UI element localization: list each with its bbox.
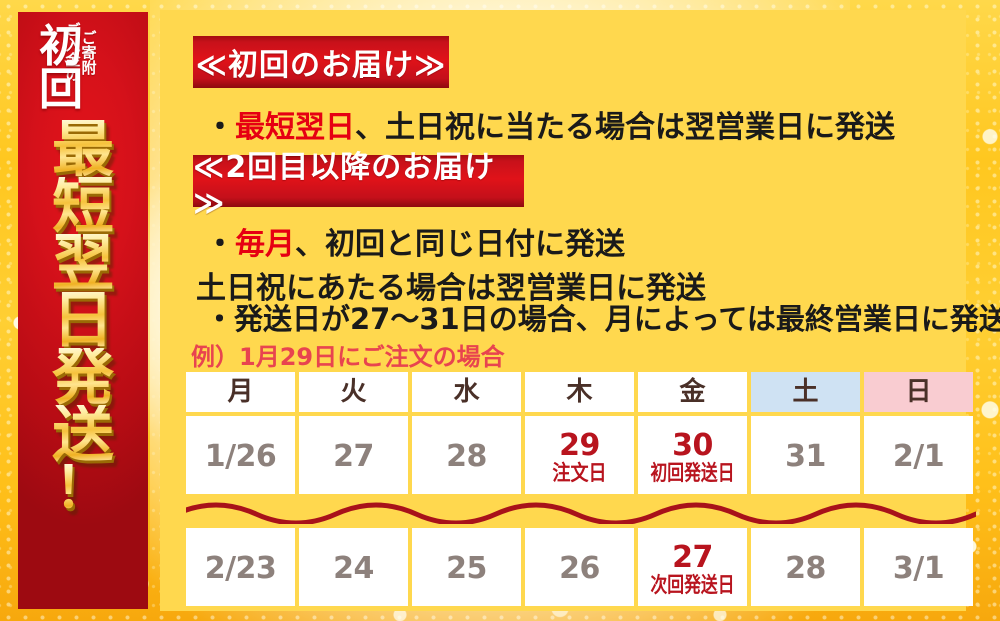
banner-shokai-label: 初 回 [26,18,96,118]
weekday-label: 木 [566,379,592,405]
weekday-cell-tue: 火 [299,372,408,412]
first-delivery-note: ・最短翌日、土日祝に当たる場合は翌営業日に発送 [205,102,895,146]
promo-banner: ご寄附 ご入金の 初 回 最 短 翌 日 発 送 ！ ≪初回のお届け≫ ・最短翌… [0,0,1000,621]
day-number: 27 [672,542,713,574]
subsequent-delivery-note-1-rest: 、初回と同じ日付に発送 [295,227,625,262]
wave-divider-svg [186,498,976,524]
highlight-monthly: 毎月 [235,227,295,262]
day-number: 27 [333,441,374,473]
day-cell-next-shipment: 27 次回発送日 [638,528,747,606]
calendar-weekday-header: 月 火 水 木 金 土 日 [186,372,976,412]
bullet-2: ・ [205,227,235,262]
day-tag-first-shipment: 初回発送日 [651,462,735,484]
calendar-wave-divider [186,498,976,524]
day-cell-first-shipment: 30 初回発送日 [638,416,747,494]
heading-subsequent-delivery: ≪2回目以降のお届け≫ [193,155,524,207]
day-cell: 28 [412,416,521,494]
weekday-label: 月 [227,379,253,405]
weekday-label: 日 [905,379,931,405]
first-delivery-note-rest: 、土日祝に当たる場合は翌営業日に発送 [355,110,895,145]
weekday-cell-sat: 土 [751,372,860,412]
day-number: 2/23 [205,553,277,585]
day-number: 28 [785,553,826,585]
calendar-week-row-2: 2/23 24 25 26 27 次回発送日 28 3/1 [186,528,976,606]
day-number: 31 [785,441,826,473]
day-cell: 25 [412,528,521,606]
weekday-cell-sun: 日 [864,372,973,412]
subsequent-delivery-note-1: ・毎月、初回と同じ日付に発送 [205,219,625,263]
weekday-label: 金 [679,379,705,405]
banner-shokai-char-2: 回 [39,68,83,111]
day-number: 28 [446,441,487,473]
day-number: 26 [559,553,600,585]
example-calendar: 月 火 水 木 金 土 日 1/26 [186,372,976,606]
heading-first-delivery: ≪初回のお届け≫ [193,36,449,88]
day-tag-next-shipment: 次回発送日 [651,574,735,596]
example-caption: 例）1月29日にご注文の場合 [191,337,505,372]
day-number: 3/1 [893,553,944,585]
highlight-soonest-next-day: 最短翌日 [235,110,355,145]
weekday-cell-fri: 金 [638,372,747,412]
day-cell: 24 [299,528,408,606]
weekday-cell-mon: 月 [186,372,295,412]
weekday-cell-thu: 木 [525,372,634,412]
day-number: 25 [446,553,487,585]
weekday-label: 土 [792,379,818,405]
day-tag-order-date: 注文日 [552,462,606,484]
day-cell-order-date: 29 注文日 [525,416,634,494]
day-number: 29 [559,430,600,462]
day-number: 2/1 [893,441,944,473]
day-cell: 2/23 [186,528,295,606]
weekday-cell-wed: 水 [412,372,521,412]
weekday-label: 水 [453,379,479,405]
day-cell: 1/26 [186,416,295,494]
day-number: 24 [333,553,374,585]
left-vertical-banner: ご寄附 ご入金の 初 回 最 短 翌 日 発 送 ！ [18,12,148,609]
bullet-1: ・ [205,110,235,145]
day-number: 1/26 [205,441,277,473]
banner-headline-vertical: 最 短 翌 日 発 送 ！ [18,120,148,609]
day-cell: 31 [751,416,860,494]
banner-char-exclamation: ！ [54,464,112,510]
day-cell: 3/1 [864,528,973,606]
day-cell: 2/1 [864,416,973,494]
subsequent-delivery-note-3: ・発送日が27〜31日の場合、月によっては最終営業日に発送 [205,296,1000,338]
day-cell: 27 [299,416,408,494]
banner-shokai-char-1: 初 [39,25,83,68]
day-number: 30 [672,430,713,462]
day-cell: 28 [751,528,860,606]
weekday-label: 火 [340,379,366,405]
day-cell: 26 [525,528,634,606]
calendar-week-row-1: 1/26 27 28 29 注文日 30 初回発送日 31 2/1 [186,416,976,494]
